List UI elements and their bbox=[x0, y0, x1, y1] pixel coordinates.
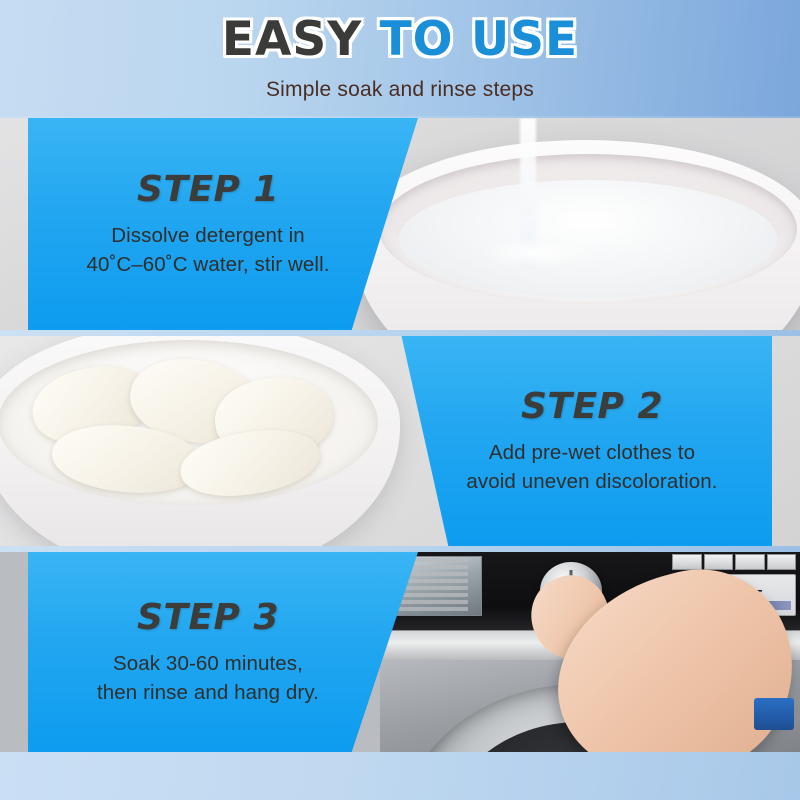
step-2-band: STEP 2 Add pre-wet clothes to avoid unev… bbox=[0, 336, 800, 546]
step-3-label: STEP 3 bbox=[137, 597, 279, 638]
step-1-band: STEP 1 Dissolve detergent in 40˚C–60˚C w… bbox=[0, 118, 800, 330]
step-3-description: Soak 30-60 minutes, then rinse and hang … bbox=[97, 650, 319, 707]
page-subtitle: Simple soak and rinse steps bbox=[266, 78, 534, 102]
basin-icon bbox=[0, 336, 400, 546]
step-1-label: STEP 1 bbox=[137, 169, 279, 210]
title-part-to-use: TO USE bbox=[380, 12, 579, 67]
machine-badge bbox=[754, 698, 794, 730]
basin-icon bbox=[355, 140, 800, 330]
step-3-content: STEP 3 Soak 30-60 minutes, then rinse an… bbox=[28, 552, 388, 752]
step-3-line-1: Soak 30-60 minutes, bbox=[97, 650, 319, 678]
title-part-easy: EASY bbox=[222, 12, 362, 67]
header-banner: EASY TO USE Simple soak and rinse steps bbox=[0, 0, 800, 116]
step-1-description: Dissolve detergent in 40˚C–60˚C water, s… bbox=[86, 222, 329, 279]
step-2-description: Add pre-wet clothes to avoid uneven disc… bbox=[466, 439, 717, 496]
step-2-line-1: Add pre-wet clothes to bbox=[466, 439, 717, 467]
page-title: EASY TO USE bbox=[222, 16, 578, 64]
step-1-line-1: Dissolve detergent in bbox=[86, 222, 329, 250]
footer-strip bbox=[0, 752, 800, 800]
step-3-line-2: then rinse and hang dry. bbox=[97, 679, 319, 707]
step-1-line-2: 40˚C–60˚C water, stir well. bbox=[86, 251, 329, 279]
step-1-content: STEP 1 Dissolve detergent in 40˚C–60˚C w… bbox=[28, 118, 388, 330]
machine-button-row bbox=[672, 554, 796, 570]
step-2-label: STEP 2 bbox=[521, 386, 663, 427]
step-2-content: STEP 2 Add pre-wet clothes to avoid unev… bbox=[412, 336, 772, 546]
infographic-page: EASY TO USE Simple soak and rinse steps … bbox=[0, 0, 800, 800]
step-3-band: 800 0:05 STEP 3 Soak 30-60 minutes, then… bbox=[0, 552, 800, 752]
step-2-line-2: avoid uneven discoloration. bbox=[466, 468, 717, 496]
